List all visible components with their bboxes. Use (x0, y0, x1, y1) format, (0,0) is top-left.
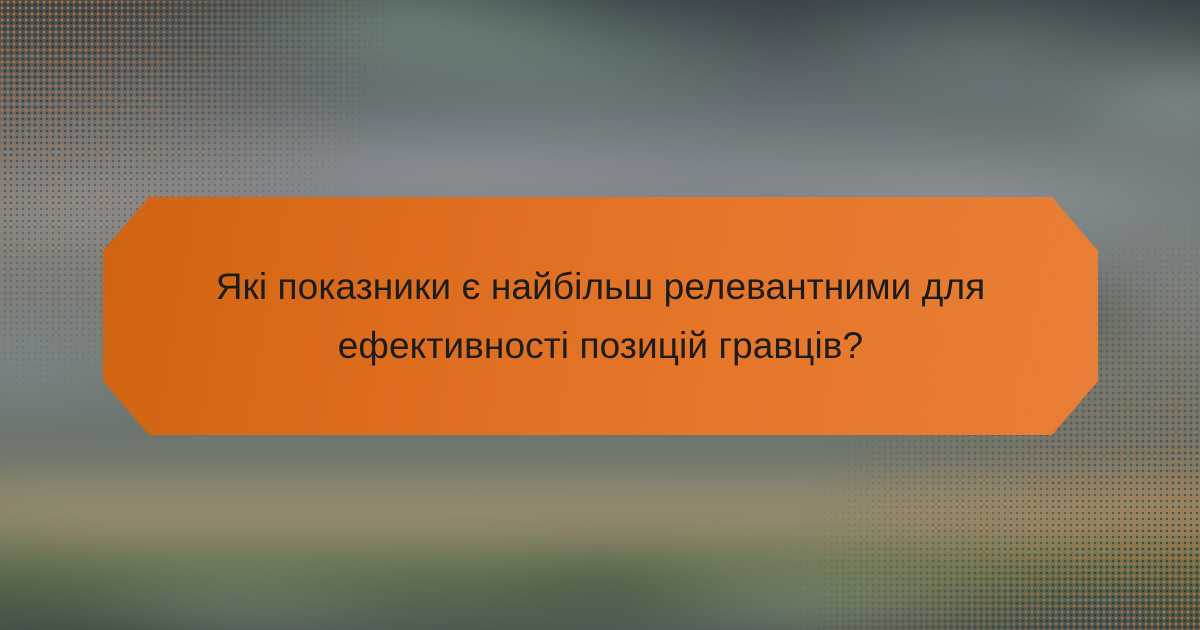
headline-text: Які показники є найбільш релевантними дл… (171, 257, 1031, 375)
slide-canvas: Які показники є найбільш релевантними дл… (0, 0, 1200, 630)
headline-banner: Які показники є найбільш релевантними дл… (103, 197, 1098, 435)
